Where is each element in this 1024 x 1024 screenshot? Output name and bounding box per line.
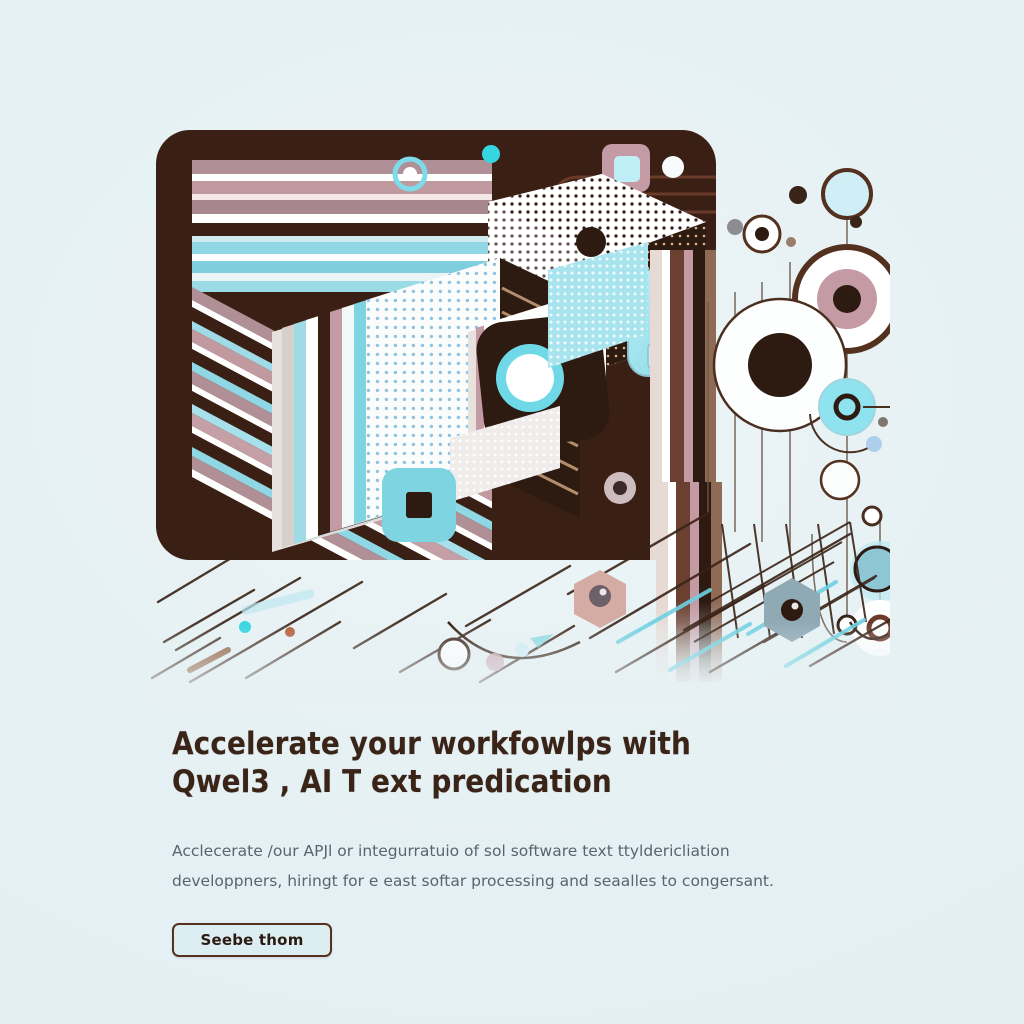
- stripe-panel-upper: [192, 160, 492, 292]
- hexagon-node-slate: [764, 578, 820, 642]
- page-title: Accelerate your workfowlps with Qwel3 , …: [172, 726, 872, 802]
- node-dot-icon: [878, 417, 888, 427]
- hexagon-node-mauve: [574, 570, 626, 628]
- node-ring-mauve: [852, 600, 890, 656]
- hero-description: Acclecerate /our APJl or integurratuio o…: [172, 836, 862, 896]
- hero-illustration: [150, 82, 890, 707]
- node-dot-icon: [239, 621, 251, 633]
- node-top-ring: [823, 170, 871, 218]
- node-dot-icon: [863, 507, 881, 525]
- node-small-ring: [744, 216, 780, 252]
- node-dot-icon: [285, 627, 295, 637]
- eye-node-icon: [604, 472, 636, 504]
- illustration-card: [156, 130, 724, 637]
- hero-page: Accelerate your workfowlps with Qwel3 , …: [0, 0, 1024, 1024]
- cta-button[interactable]: Seebe thom: [172, 923, 332, 957]
- node-dot-icon: [515, 643, 529, 657]
- node-dot-icon: [866, 436, 882, 452]
- bottom-fade: [150, 622, 890, 707]
- node-dot-icon: [727, 219, 743, 235]
- node-dot-icon: [789, 186, 807, 204]
- square-badge-icon: [382, 468, 456, 542]
- node-white-ring: [821, 461, 859, 499]
- node-dot-icon: [850, 216, 862, 228]
- accent-dash: [246, 594, 310, 610]
- node-teal: [850, 541, 890, 601]
- cyan-dot-icon: [482, 145, 500, 163]
- node-dot-small-ring: [439, 639, 469, 669]
- node-dot-icon: [486, 653, 504, 671]
- node-dot-icon: [786, 237, 796, 247]
- hero-copy-block: Accelerate your workfowlps with Qwel3 , …: [172, 726, 872, 802]
